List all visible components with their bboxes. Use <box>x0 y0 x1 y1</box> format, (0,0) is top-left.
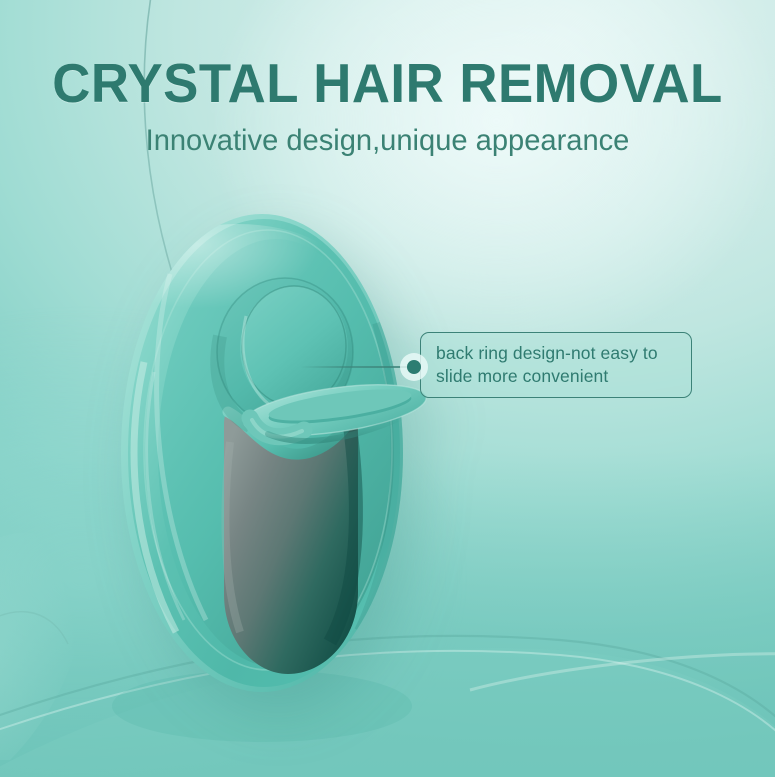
callout-box[interactable]: back ring design-not easy to slide more … <box>420 332 692 398</box>
product-banner: CRYSTAL HAIR REMOVAL Innovative design,u… <box>0 0 775 777</box>
banner-heading-group: CRYSTAL HAIR REMOVAL Innovative design,u… <box>0 55 775 157</box>
product-illustration <box>118 212 406 694</box>
callout-leader-line <box>300 366 410 368</box>
page-subtitle: Innovative design,unique appearance <box>12 125 764 157</box>
page-title: CRYSTAL HAIR REMOVAL <box>16 55 760 111</box>
product-image <box>118 212 406 694</box>
callout-text: back ring design-not easy to slide more … <box>436 342 686 389</box>
callout-marker-dot <box>407 360 421 374</box>
callout-marker <box>400 353 428 381</box>
